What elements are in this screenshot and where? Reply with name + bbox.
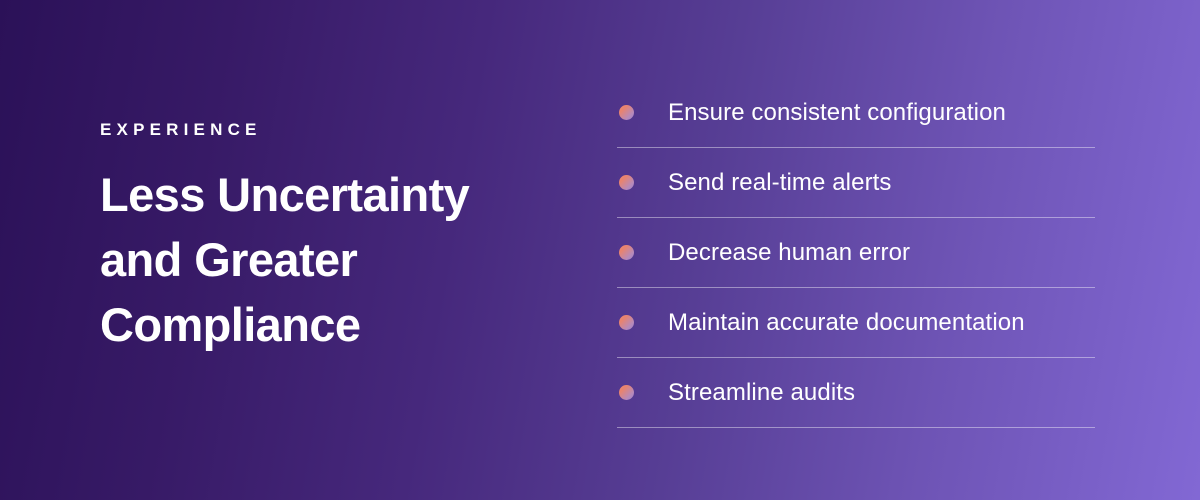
bullet-dot-icon [619,315,634,330]
bullet-dot-icon [619,175,634,190]
headline-block: EXPERIENCE Less Uncertainty and Greater … [100,120,570,357]
promo-banner: EXPERIENCE Less Uncertainty and Greater … [0,0,1200,500]
list-item-label: Send real-time alerts [668,168,892,198]
headline-line-1: Less Uncertainty [100,162,570,227]
list-item: Send real-time alerts [617,148,1095,218]
list-item: Maintain accurate documentation [617,288,1095,358]
bullet-dot-icon [619,385,634,400]
headline-line-3: Compliance [100,292,570,357]
list-item-label: Streamline audits [668,378,855,408]
list-item-label: Maintain accurate documentation [668,308,1025,338]
headline-line-2: and Greater [100,227,570,292]
list-item: Decrease human error [617,218,1095,288]
list-item-label: Ensure consistent configuration [668,98,1006,128]
list-item-label: Decrease human error [668,238,910,268]
list-item: Streamline audits [617,358,1095,428]
eyebrow-label: EXPERIENCE [100,120,570,140]
feature-list: Ensure consistent configuration Send rea… [617,78,1095,428]
list-item: Ensure consistent configuration [617,78,1095,148]
bullet-dot-icon [619,105,634,120]
bullet-dot-icon [619,245,634,260]
page-title: Less Uncertainty and Greater Compliance [100,162,570,357]
